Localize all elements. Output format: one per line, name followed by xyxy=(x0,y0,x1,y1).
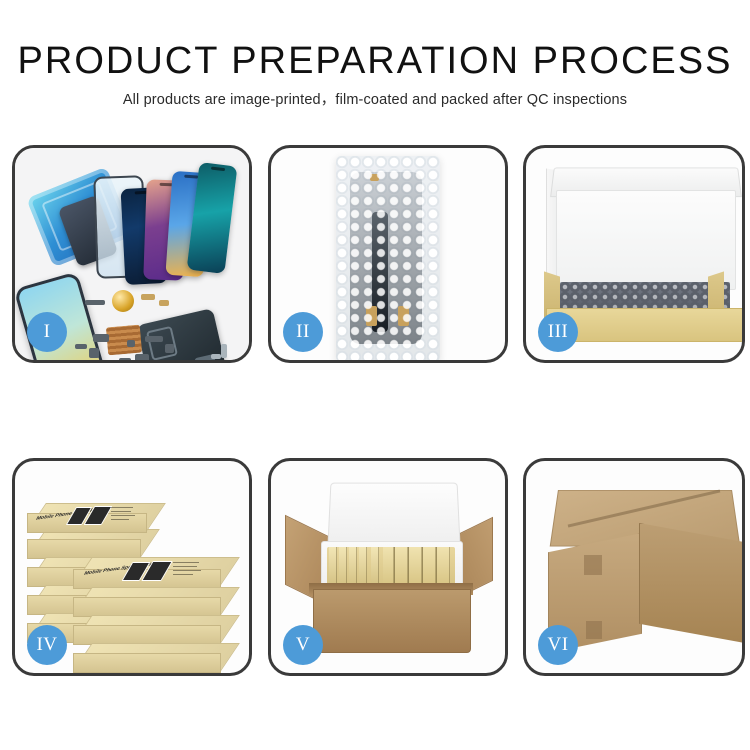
step-badge-2: II xyxy=(283,312,323,352)
page-title: PRODUCT PREPARATION PROCESS xyxy=(0,40,750,83)
step-panel-1: I xyxy=(12,145,252,363)
step-panel-5: V xyxy=(268,458,508,676)
carton-right-face xyxy=(639,523,742,643)
step-panel-2: II xyxy=(268,145,508,363)
step-badge-5: V xyxy=(283,625,323,665)
step-badge-1: I xyxy=(27,312,67,352)
speaker-coil-icon xyxy=(112,290,134,312)
step-panel-4: Mobile Phone Spare Parts Mobile Phone Sp… xyxy=(12,458,252,676)
step-panel-3: III xyxy=(523,145,745,363)
foam-box-lid-icon xyxy=(327,483,460,545)
carton-front xyxy=(313,589,471,653)
carton-tape-bottom xyxy=(586,621,602,639)
carton-tape-top xyxy=(584,555,602,575)
step-panel-6: VI xyxy=(523,458,745,676)
step-badge-3: III xyxy=(538,312,578,352)
step-badge-6: VI xyxy=(538,625,578,665)
infographic-root: PRODUCT PREPARATION PROCESS All products… xyxy=(0,0,750,750)
page-subtitle: All products are image-printed，film-coat… xyxy=(0,88,750,109)
phone-fan-group xyxy=(119,162,249,282)
chip-grid-icon xyxy=(106,325,142,356)
step-badge-4: IV xyxy=(27,625,67,665)
bubble-wrap-bag-icon xyxy=(336,156,440,360)
